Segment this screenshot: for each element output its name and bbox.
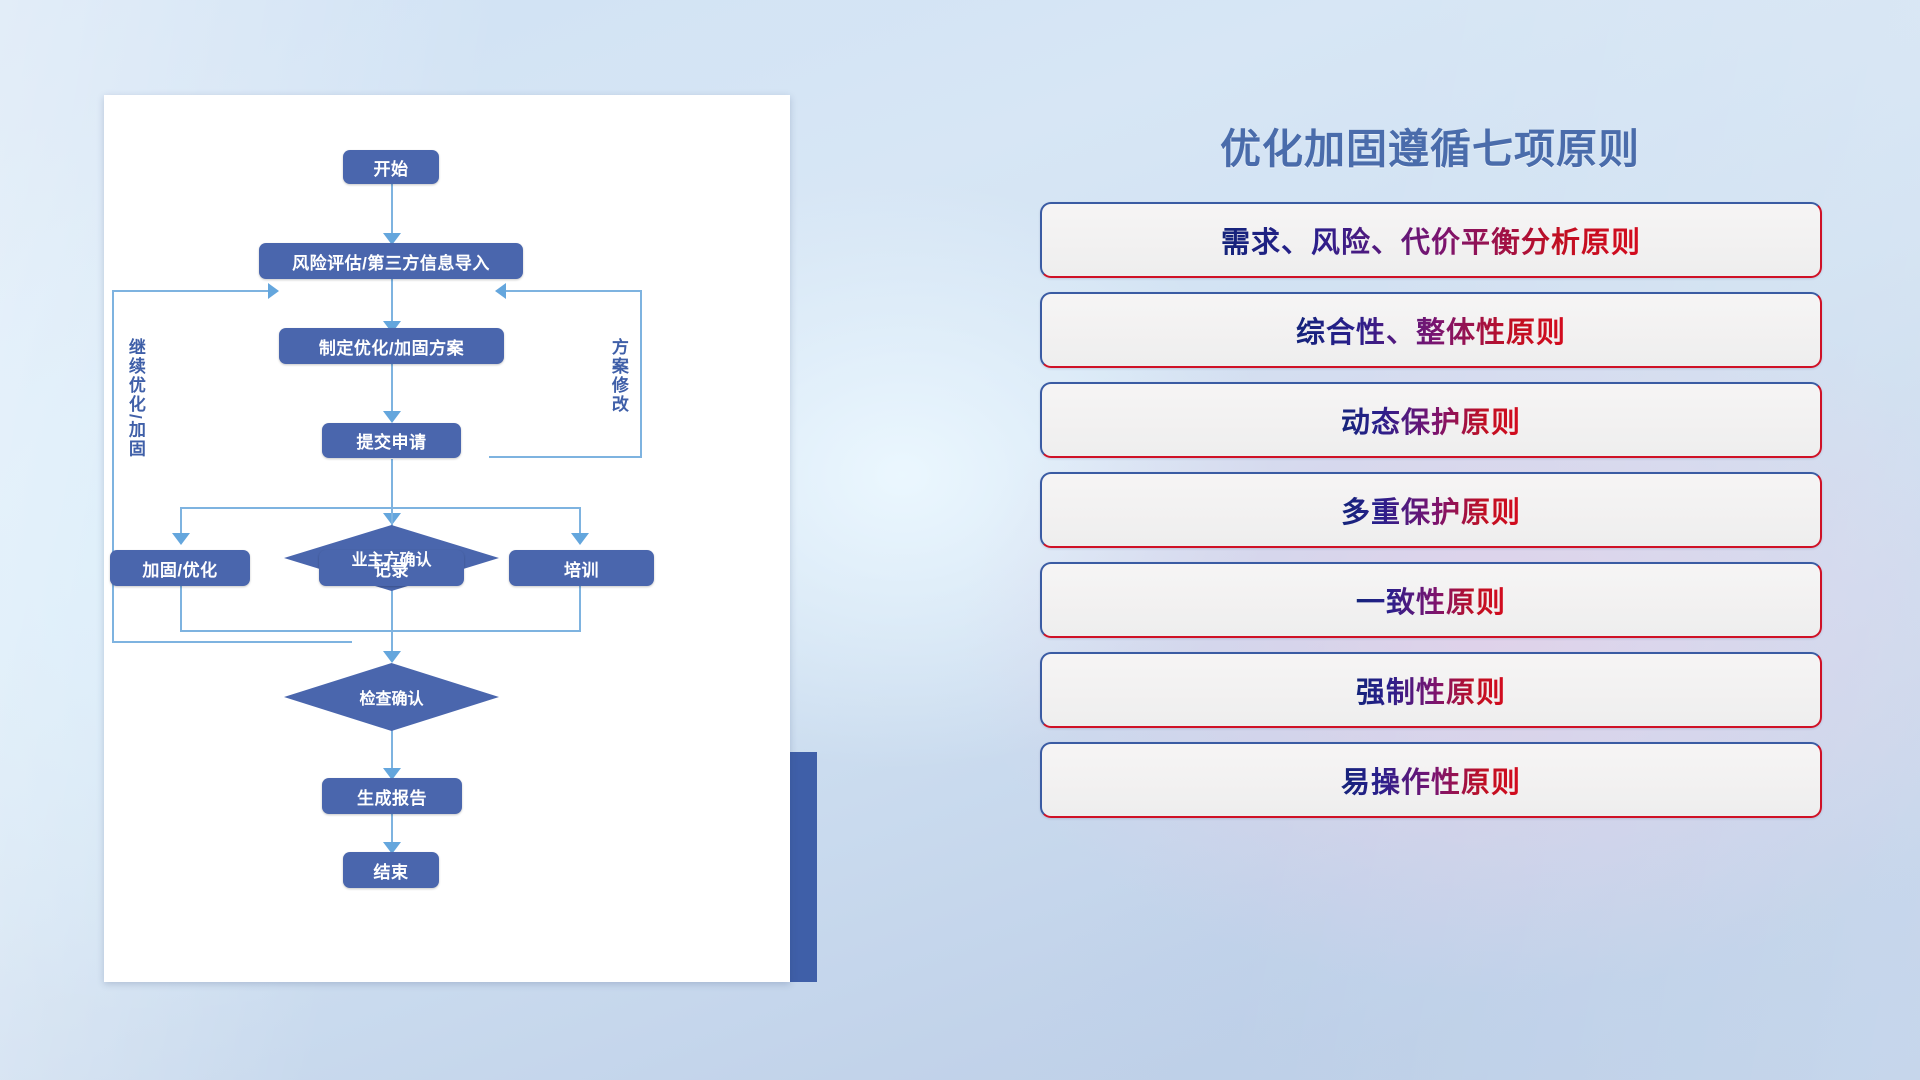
flowchart-card: 继续优化/加固 方案修改 开始 风险评估/第三方信息导入 制定优化/加固方案 提… (104, 95, 790, 982)
edge-label-right-loop: 方案修改 (609, 338, 627, 414)
principle-item-2[interactable]: 综合性、整体性原则 (1040, 292, 1822, 368)
flow-node-label: 生成报告 (357, 784, 427, 809)
flow-node-check-confirm[interactable]: 检查确认 (284, 663, 499, 731)
principle-label: 需求、风险、代价平衡分析原则 (1221, 219, 1641, 261)
principle-item-5[interactable]: 一致性原则 (1040, 562, 1822, 638)
principle-item-3[interactable]: 动态保护原则 (1040, 382, 1822, 458)
principle-item-1[interactable]: 需求、风险、代价平衡分析原则 (1040, 202, 1822, 278)
flow-node-label: 加固/优化 (142, 556, 217, 581)
connector-branch-bus (180, 507, 580, 509)
arrow-down-check (383, 651, 401, 663)
flow-node-submit[interactable]: 提交申请 (322, 423, 461, 458)
principle-label: 强制性原则 (1356, 669, 1506, 711)
arrow-down-reinforce (172, 533, 190, 545)
connector-left-loop-bottom (112, 641, 352, 643)
arrow-down-submit (383, 411, 401, 423)
arrow-right-plan-left (268, 283, 279, 299)
connector-right-loop-bottom (489, 456, 642, 458)
flow-node-label: 提交申请 (357, 428, 427, 453)
flow-node-plan[interactable]: 制定优化/加固方案 (279, 328, 504, 364)
connector-merge-bus (180, 630, 580, 632)
flow-node-label: 开始 (374, 155, 409, 180)
connector-training-down (579, 586, 581, 632)
principle-item-6[interactable]: 强制性原则 (1040, 652, 1822, 728)
flow-node-end[interactable]: 结束 (343, 852, 439, 888)
flow-node-label: 制定优化/加固方案 (319, 334, 464, 359)
flow-node-risk-assessment[interactable]: 风险评估/第三方信息导入 (259, 243, 523, 279)
principle-label: 动态保护原则 (1341, 399, 1521, 441)
flow-node-label: 结束 (374, 858, 409, 883)
principle-label: 综合性、整体性原则 (1296, 309, 1566, 351)
flow-node-reinforce[interactable]: 加固/优化 (110, 550, 250, 586)
flow-node-report[interactable]: 生成报告 (322, 778, 462, 814)
connector-right-loop-top (503, 290, 642, 292)
flow-node-label: 培训 (564, 556, 599, 581)
flow-node-label: 检查确认 (359, 685, 423, 709)
connector-left-loop-vertical (112, 290, 114, 642)
arrow-down-training (571, 533, 589, 545)
connector-left-loop-top (112, 290, 272, 292)
principle-label: 多重保护原则 (1341, 489, 1521, 531)
connector-reinforce-down (180, 586, 182, 632)
connector-record-check (391, 586, 393, 659)
principle-label: 易操作性原则 (1341, 759, 1521, 801)
flow-node-training[interactable]: 培训 (509, 550, 654, 586)
arrow-left-plan-right (495, 283, 506, 299)
flow-node-start[interactable]: 开始 (343, 150, 439, 184)
principle-label: 一致性原则 (1356, 579, 1506, 621)
connector-right-loop-vertical (640, 290, 642, 458)
principles-panel: 优化加固遵循七项原则 需求、风险、代价平衡分析原则 综合性、整体性原则 动态保护… (1020, 95, 1840, 995)
edge-label-left-loop: 继续优化/加固 (126, 338, 144, 459)
flow-node-label: 风险评估/第三方信息导入 (292, 249, 490, 274)
principle-item-4[interactable]: 多重保护原则 (1040, 472, 1822, 548)
principle-item-7[interactable]: 易操作性原则 (1040, 742, 1822, 818)
page-title: 优化加固遵循七项原则 (1020, 115, 1840, 175)
flow-node-label: 业主方确认 (351, 546, 431, 570)
